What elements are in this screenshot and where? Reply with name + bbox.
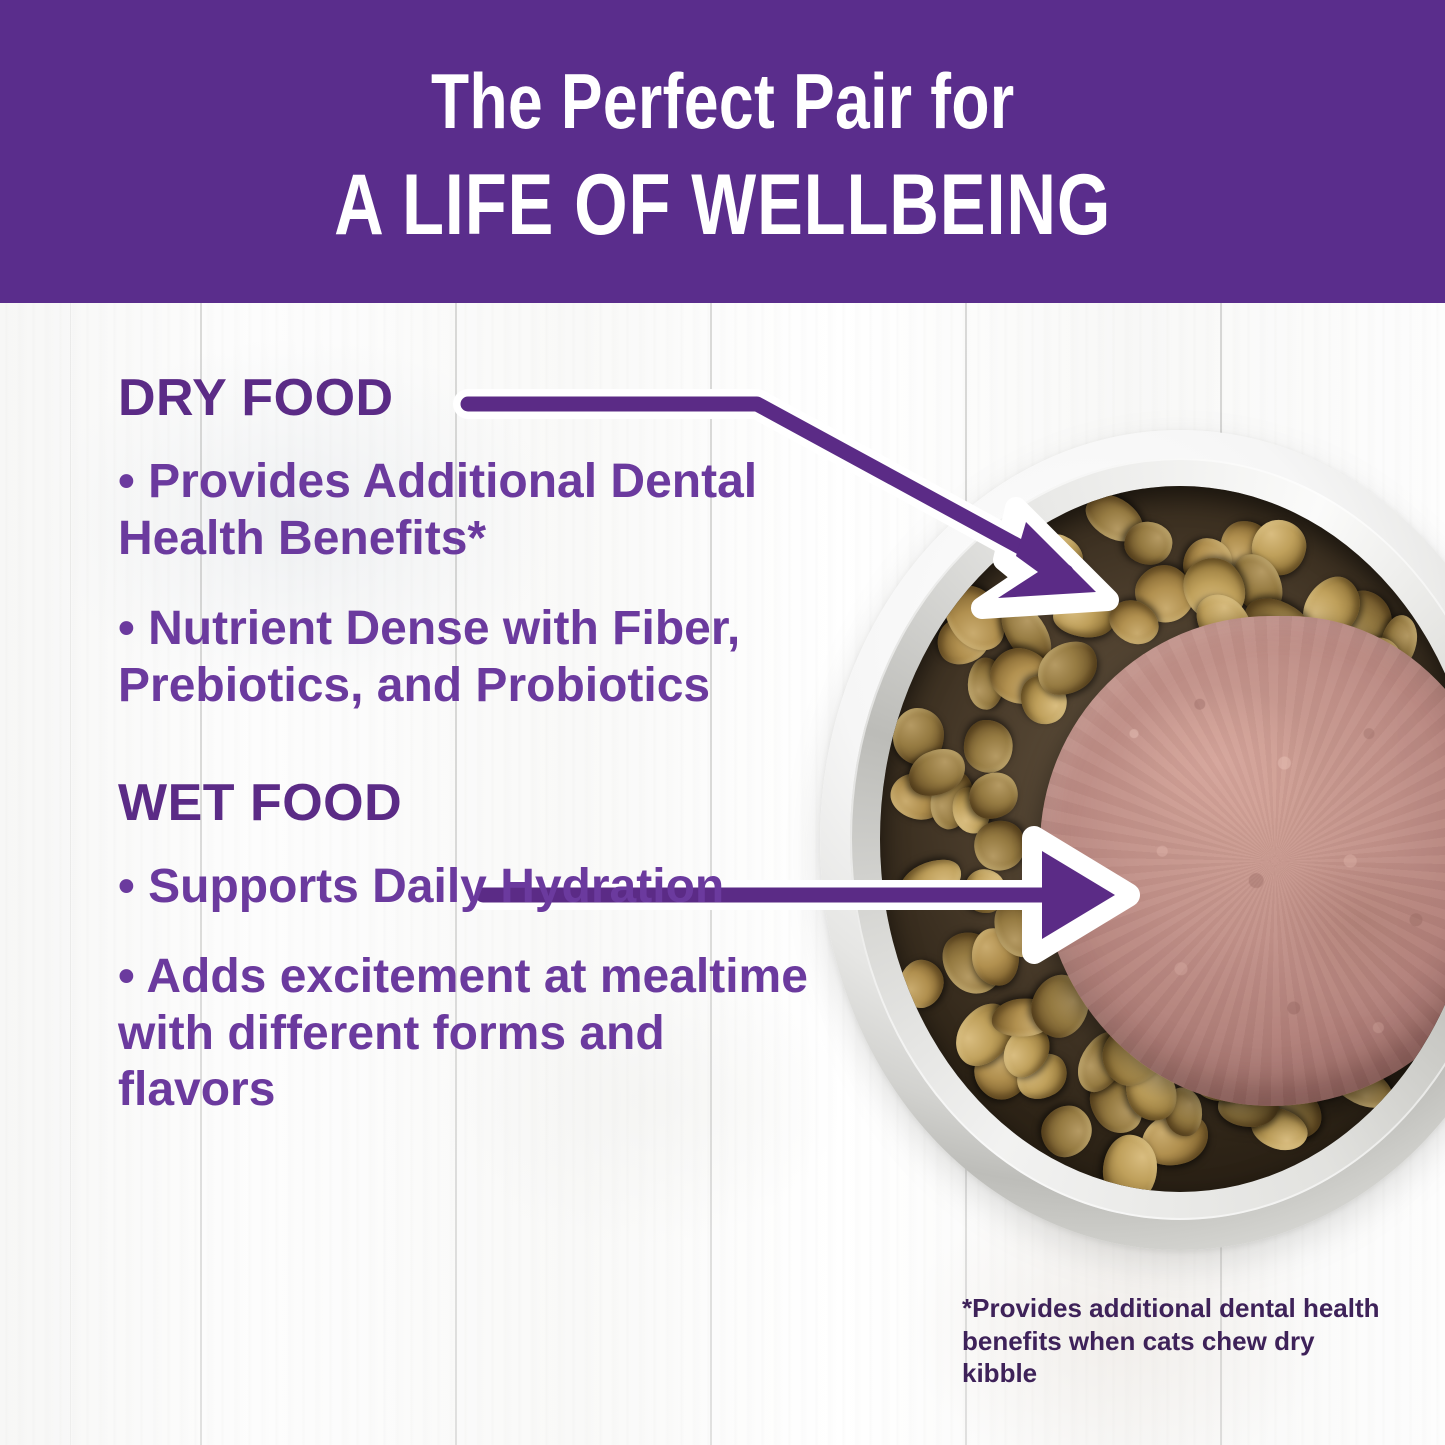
bullet-dry-1: • Provides Additional Dental Health Bene… (118, 454, 818, 567)
bullet-dry-2: • Nutrient Dense with Fiber, Prebiotics,… (118, 601, 818, 714)
banner-headline-line2: A LIFE OF WELLBEING (334, 162, 1111, 248)
benefits-copy-column: DRY FOOD • Provides Additional Dental He… (118, 372, 818, 1153)
header-banner: The Perfect Pair for A LIFE OF WELLBEING (0, 0, 1445, 303)
bullet-wet-1: • Supports Daily Hydration (118, 859, 818, 916)
kibble-piece (962, 718, 1015, 775)
bowl-interior (880, 486, 1445, 1192)
kibble-piece (1124, 521, 1174, 566)
banner-headline-line1: The Perfect Pair for (431, 62, 1015, 140)
section-heading-dry-food: DRY FOOD (118, 372, 818, 424)
product-feature-card: The Perfect Pair for A LIFE OF WELLBEING… (0, 0, 1445, 1445)
section-heading-wet-food: WET FOOD (118, 777, 818, 829)
footnote-text: *Provides additional dental health benef… (962, 1292, 1382, 1390)
kibble-piece (894, 955, 948, 1013)
kibble-piece (1051, 597, 1116, 641)
cat-food-bowl-photo (820, 430, 1445, 1270)
kibble-piece (892, 851, 969, 915)
bullet-wet-2: • Adds excitement at mealtime with diffe… (118, 949, 818, 1119)
